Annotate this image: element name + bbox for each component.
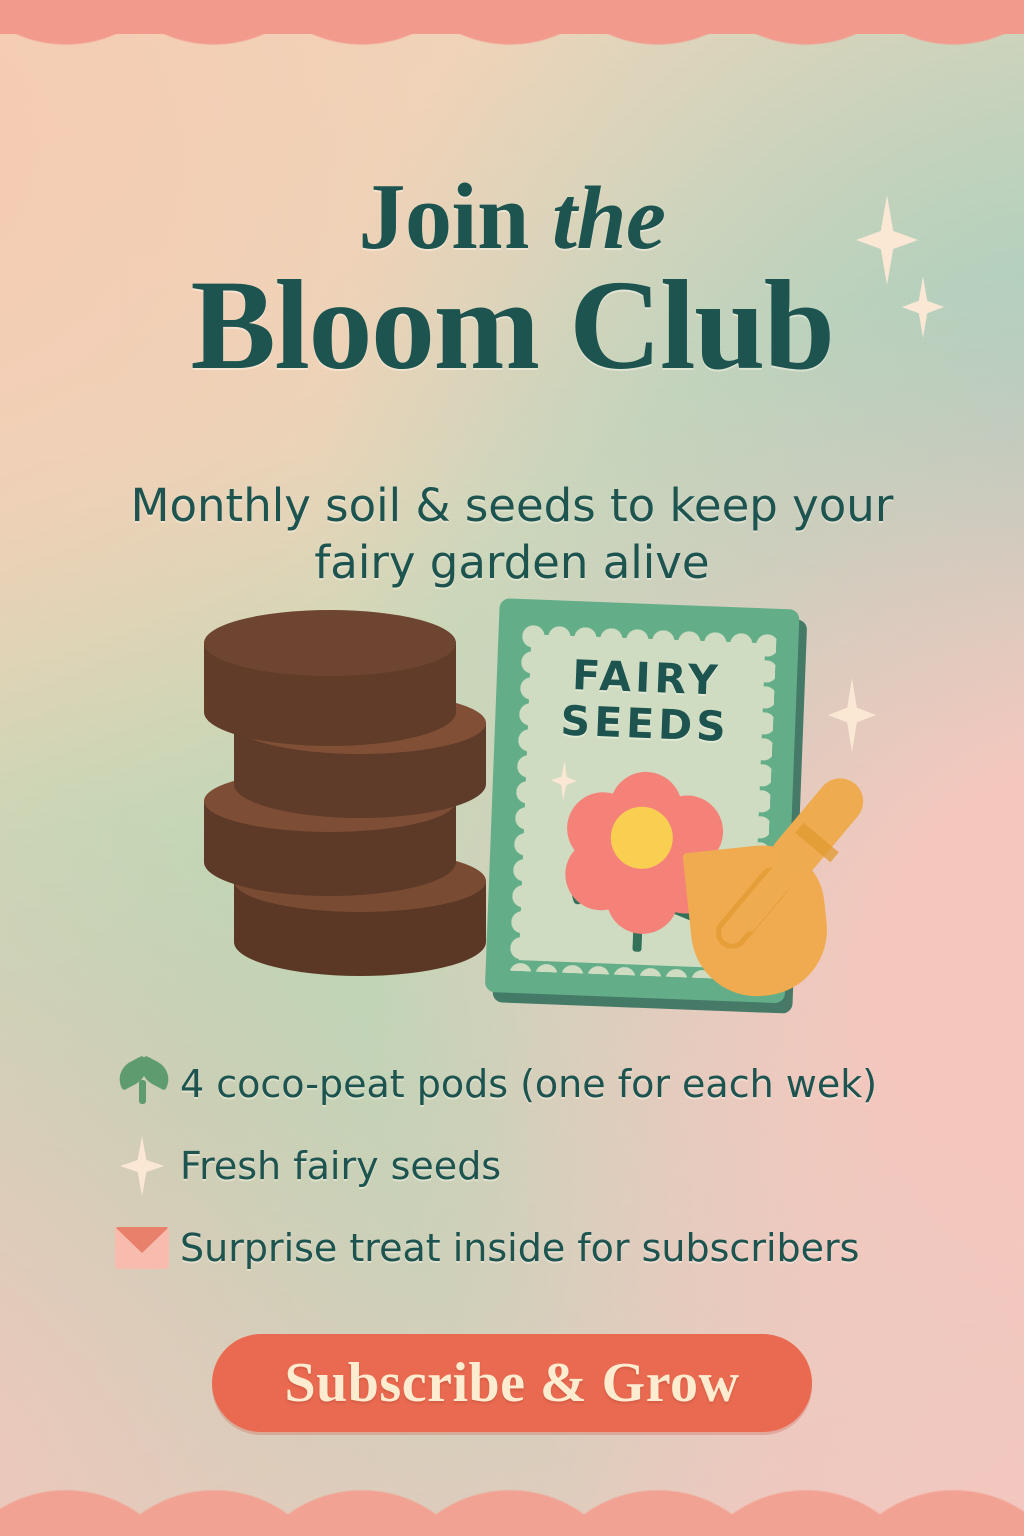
list-item-label: Surprise treat inside for subscribers (180, 1226, 859, 1270)
scallop-border-bottom (0, 1448, 1024, 1536)
headline-line-2: Bloom Club (0, 260, 1024, 391)
poster-canvas: Join the Bloom Club Monthly soil & seeds… (0, 0, 1024, 1536)
list-item-label: Fresh fairy seeds (180, 1144, 501, 1188)
headline-line-1: Join the (0, 171, 1024, 263)
list-item: Fresh fairy seeds (104, 1130, 964, 1202)
list-item: Surprise treat inside for subscribers (104, 1212, 964, 1284)
trowel-handle (761, 769, 872, 889)
seedling-icon (104, 1056, 180, 1112)
feature-list: 4 coco-peat pods (one for each wek) Fres… (104, 1048, 964, 1294)
coco-peat-pod-stack (198, 610, 498, 992)
page-title: Join the Bloom Club (0, 171, 1024, 390)
list-item: 4 coco-peat pods (one for each wek) (104, 1048, 964, 1120)
list-item-label: 4 coco-peat pods (one for each wek) (180, 1062, 877, 1106)
subscribe-button-label: Subscribe & Grow (285, 1351, 740, 1415)
seed-packet-label: FAIRY SEEDS (494, 650, 797, 753)
scallop-border-top (0, 0, 1024, 88)
sparkle-icon (104, 1138, 180, 1194)
trowel-icon (690, 770, 870, 1000)
product-illustration: FAIRY SEEDS (0, 590, 1024, 1020)
packet-title-line-2: SEEDS (560, 697, 731, 751)
envelope-icon (104, 1220, 180, 1276)
subtitle: Monthly soil & seeds to keep your fairy … (112, 477, 912, 591)
subscribe-button[interactable]: Subscribe & Grow (212, 1334, 812, 1432)
packet-title-line-1: FAIRY (571, 651, 722, 705)
